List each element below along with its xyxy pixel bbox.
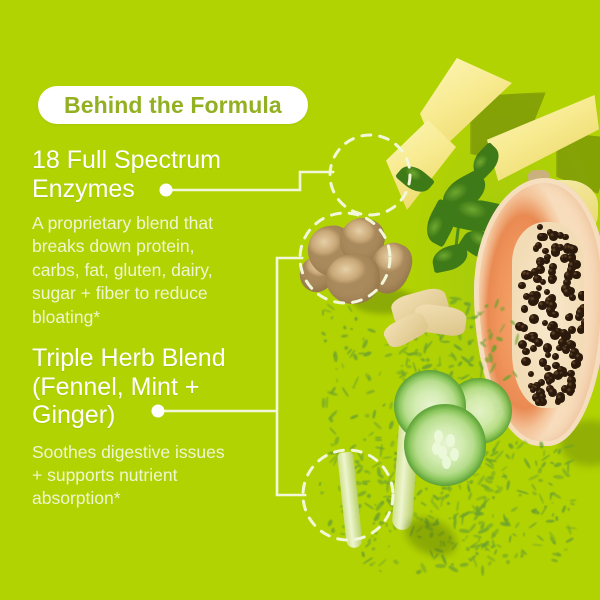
triple-herb-blend-body: Soothes digestive issues + supports nutr… [32, 441, 226, 511]
fennel-circle [303, 450, 393, 540]
graphic-overlay: Behind the Formula 18 Full Spectrum Enzy… [0, 0, 600, 600]
pineapple-circle [330, 135, 410, 215]
section-enzymes: 18 Full Spectrum Enzymes A proprietary b… [32, 146, 221, 329]
badge-label: Behind the Formula [64, 92, 282, 119]
ginger-circle [300, 213, 390, 303]
enzymes-body: A proprietary blend that breaks down pro… [32, 212, 221, 329]
enzymes-headline: 18 Full Spectrum Enzymes [32, 146, 221, 203]
behind-the-formula-badge: Behind the Formula [38, 86, 308, 124]
triple-herb-blend-headline: Triple Herb Blend (Fennel, Mint + Ginger… [32, 344, 226, 430]
behind-the-formula-poster: Behind the Formula 18 Full Spectrum Enzy… [0, 0, 600, 600]
section-triple-herb-blend: Triple Herb Blend (Fennel, Mint + Ginger… [32, 344, 226, 511]
